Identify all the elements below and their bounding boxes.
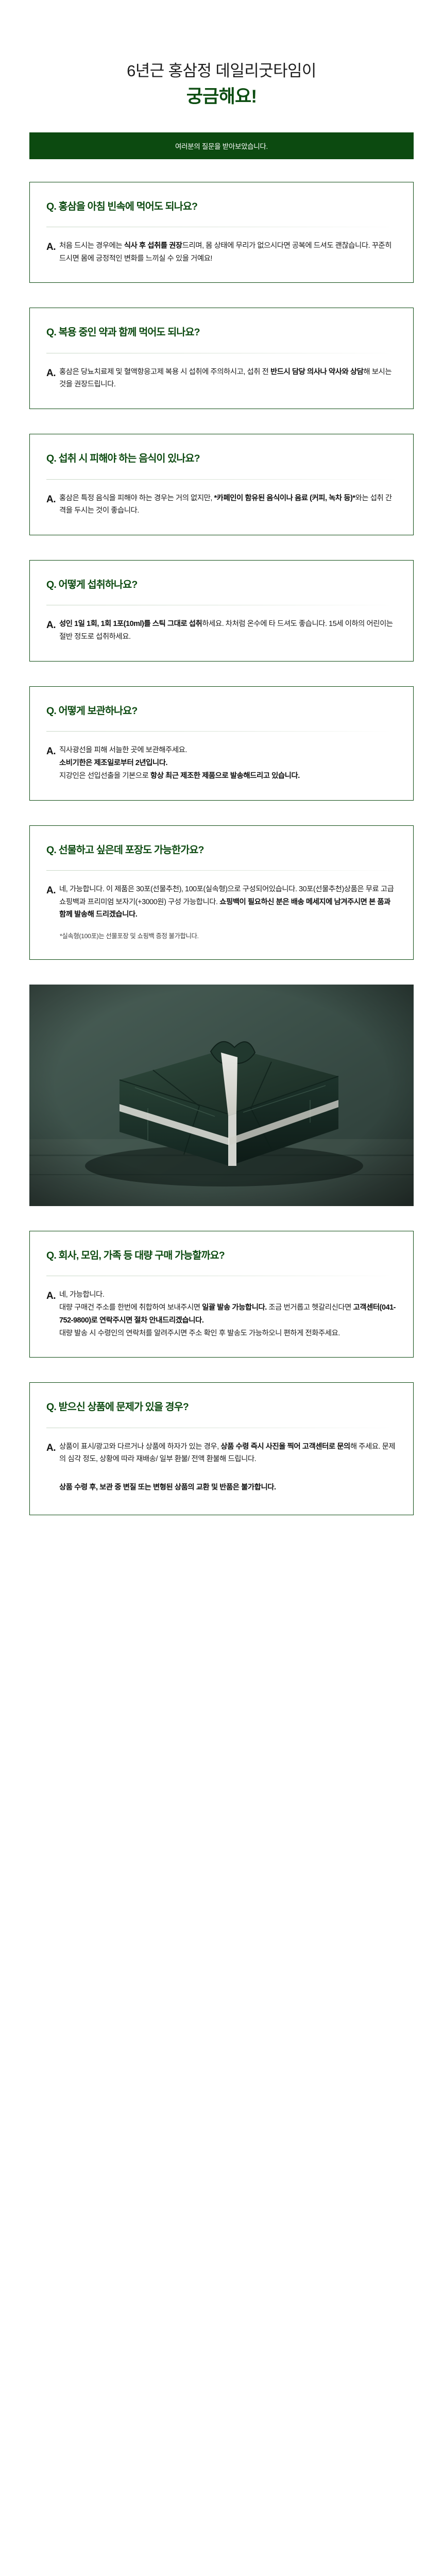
faq-card: Q. 어떻게 섭취하나요?A.성인 1일 1회, 1회 1포(10ml)를 스틱… (29, 560, 414, 662)
page-title-line1: 6년근 홍삼정 데일리굿타임이 (0, 61, 443, 81)
gift-packaging-photo (29, 985, 414, 1206)
faq-answer-text: 처음 드시는 경우에는 식사 후 섭취를 권장드리며, 몸 상태에 무리가 없으… (59, 240, 397, 265)
faq-answer-marker: A. (46, 883, 56, 899)
intro-banner: 여러분의 질문을 받아보았습니다. (29, 132, 414, 159)
page-title-line2: 궁금해요! (0, 84, 443, 109)
faq-closing-text: 상품 수령 후, 보관 중 변질 또는 변형된 상품의 교환 및 반품은 불가합… (59, 1481, 397, 1494)
faq-answer: A.상품이 표시/광고와 다르거나 상품에 하자가 있는 경우, 상품 수령 즉… (46, 1440, 397, 1466)
faq-divider (46, 870, 397, 871)
faq-divider (46, 1428, 397, 1428)
faq-divider (46, 227, 397, 227)
faq-answer-marker: A. (46, 492, 56, 508)
faq-answer-text: 직사광선을 피해 서늘한 곳에 보관해주세요.소비기한은 제조일로부터 2년입니… (59, 744, 397, 782)
faq-answer-marker: A. (46, 1440, 56, 1456)
faq-answer-text: 네, 가능합니다. 이 제품은 30포(선물추천), 100포(실속형)으로 구… (59, 883, 397, 921)
faq-question: Q. 홍삼을 아침 빈속에 먹어도 되나요? (46, 200, 397, 213)
faq-question: Q. 복용 중인 약과 함께 먹어도 되나요? (46, 326, 397, 339)
faq-answer-text: 성인 1일 1회, 1회 1포(10ml)를 스틱 그대로 섭취하세요. 차처럼… (59, 618, 397, 643)
faq-answer: A.처음 드시는 경우에는 식사 후 섭취를 권장드리며, 몸 상태에 무리가 … (46, 240, 397, 265)
faq-card: Q. 받으신 상품에 문제가 있을 경우?A.상품이 표시/광고와 다르거나 상… (29, 1382, 414, 1515)
faq-answer-text: 상품이 표시/광고와 다르거나 상품에 하자가 있는 경우, 상품 수령 즉시 … (59, 1440, 397, 1466)
faq-card: Q. 어떻게 보관하나요?A.직사광선을 피해 서늘한 곳에 보관해주세요.소비… (29, 686, 414, 801)
faq-answer: A.성인 1일 1회, 1회 1포(10ml)를 스틱 그대로 섭취하세요. 차… (46, 618, 397, 643)
faq-answer: A.네, 가능합니다.대량 구매건 주소를 한번에 취합하여 보내주시면 일괄 … (46, 1289, 397, 1340)
faq-divider (46, 353, 397, 353)
faq-divider (46, 605, 397, 605)
faq-answer-marker: A. (46, 744, 56, 760)
faq-card: Q. 선물하고 싶은데 포장도 가능한가요?A.네, 가능합니다. 이 제품은 … (29, 825, 414, 960)
faq-divider (46, 479, 397, 480)
faq-divider (46, 1276, 397, 1276)
faq-answer: A.홍삼은 당뇨치료제 및 혈액항응고제 복용 시 섭취에 주의하시고, 섭취 … (46, 366, 397, 392)
faq-question: Q. 받으신 상품에 문제가 있을 경우? (46, 1400, 397, 1414)
faq-answer-marker: A. (46, 618, 56, 634)
faq-answer: A.홍삼은 특정 음식을 피해야 하는 경우는 거의 없지만, *카페인이 함유… (46, 492, 397, 518)
faq-card: Q. 섭취 시 피해야 하는 음식이 있나요?A.홍삼은 특정 음식을 피해야 … (29, 434, 414, 535)
faq-question: Q. 회사, 모임, 가족 등 대량 구매 가능할까요? (46, 1249, 397, 1262)
faq-card: Q. 홍삼을 아침 빈속에 먹어도 되나요?A.처음 드시는 경우에는 식사 후… (29, 182, 414, 283)
faq-list: Q. 홍삼을 아침 빈속에 먹어도 되나요?A.처음 드시는 경우에는 식사 후… (0, 182, 443, 1515)
faq-question: Q. 선물하고 싶은데 포장도 가능한가요? (46, 843, 397, 857)
faq-card: Q. 회사, 모임, 가족 등 대량 구매 가능할까요?A.네, 가능합니다.대… (29, 1231, 414, 1358)
faq-answer-marker: A. (46, 240, 56, 256)
faq-answer: A.직사광선을 피해 서늘한 곳에 보관해주세요.소비기한은 제조일로부터 2년… (46, 744, 397, 782)
faq-note: *실속형(100포)는 선물포장 및 쇼핑백 증정 불가합니다. (46, 931, 397, 942)
faq-question: Q. 섭취 시 피해야 하는 음식이 있나요? (46, 452, 397, 465)
faq-answer-marker: A. (46, 1289, 56, 1304)
faq-question: Q. 어떻게 보관하나요? (46, 704, 397, 718)
faq-question: Q. 어떻게 섭취하나요? (46, 578, 397, 591)
faq-card: Q. 복용 중인 약과 함께 먹어도 되나요?A.홍삼은 당뇨치료제 및 혈액항… (29, 308, 414, 409)
page-header: 6년근 홍삼정 데일리굿타임이 궁금해요! (0, 0, 443, 109)
intro-banner-text: 여러분의 질문을 받아보았습니다. (175, 141, 268, 151)
faq-answer-text: 홍삼은 당뇨치료제 및 혈액항응고제 복용 시 섭취에 주의하시고, 섭취 전 … (59, 366, 397, 392)
faq-closing-note: A.상품 수령 후, 보관 중 변질 또는 변형된 상품의 교환 및 반품은 불… (46, 1481, 397, 1497)
faq-answer-text: 홍삼은 특정 음식을 피해야 하는 경우는 거의 없지만, *카페인이 함유된 … (59, 492, 397, 518)
faq-divider (46, 731, 397, 732)
faq-answer-marker: A. (46, 366, 56, 382)
gift-packaging-photo-wrap (29, 985, 414, 1206)
faq-answer-text: 네, 가능합니다.대량 구매건 주소를 한번에 취합하여 보내주시면 일괄 발송… (59, 1289, 397, 1340)
faq-answer: A.네, 가능합니다. 이 제품은 30포(선물추천), 100포(실속형)으로… (46, 883, 397, 921)
faq-page: 6년근 홍삼정 데일리굿타임이 궁금해요! 여러분의 질문을 받아보았습니다. … (0, 0, 443, 2576)
